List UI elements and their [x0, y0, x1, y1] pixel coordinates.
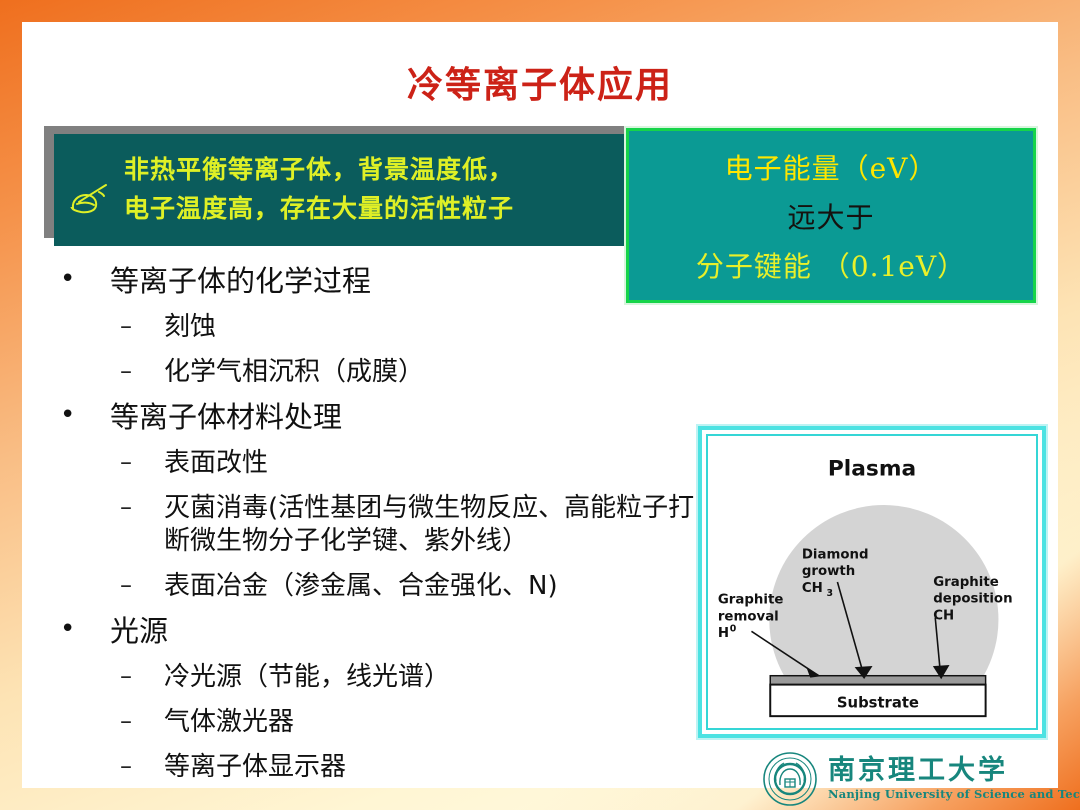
- slide: 冷等离子体应用 非热平衡等离子体，背景温度低， 电子温度高，存在大量的活性粒子: [0, 0, 1080, 810]
- bullet-text: 气体激光器: [164, 706, 294, 740]
- label-graphite-removal-line2: removal: [718, 609, 779, 624]
- callout-line-1: 非热平衡等离子体，背景温度低，: [124, 151, 514, 190]
- bullet-item-level2: – 表面冶金（渗金属、合金强化、N): [48, 570, 728, 604]
- bullet-marker: –: [120, 661, 164, 692]
- bullet-item-level1: • 等离子体材料处理: [48, 399, 728, 436]
- bullet-text: 刻蚀: [164, 311, 216, 345]
- logo-text-block: 南京理工大学 Nanjing University of Science and…: [828, 757, 1080, 801]
- plasma-diagram: Plasma Diamond growth CH 3 Graphite remo…: [698, 426, 1046, 738]
- bullet-text: 等离子体材料处理: [110, 399, 342, 436]
- logo-english-name: Nanjing University of Science and Techno…: [828, 787, 1080, 801]
- bullet-marker: –: [120, 706, 164, 737]
- bullet-item-level2: – 表面改性: [48, 447, 728, 481]
- callout-line-2: 电子温度高，存在大量的活性粒子: [124, 190, 514, 229]
- page-title: 冷等离子体应用: [22, 56, 1058, 108]
- bullet-text: 冷光源（节能，线光谱）: [164, 661, 450, 695]
- bullet-marker: –: [120, 356, 164, 387]
- bullet-marker: –: [120, 570, 164, 601]
- bullet-item-level2: – 等离子体显示器: [48, 751, 728, 785]
- bullet-item-level2: – 化学气相沉积（成膜）: [48, 356, 728, 390]
- label-diamond-line1: Diamond: [802, 547, 869, 562]
- bullet-marker: –: [120, 492, 164, 523]
- bullet-item-level2: – 气体激光器: [48, 706, 728, 740]
- label-graphite-removal-superscript: 0: [730, 623, 737, 634]
- bullet-list: • 等离子体的化学过程 – 刻蚀 – 化学气相沉积（成膜） • 等离子体材料处理…: [48, 254, 728, 785]
- university-seal-icon: [762, 751, 818, 807]
- bullet-text: 等离子体显示器: [164, 751, 346, 785]
- bullet-item-level1: • 光源: [48, 613, 728, 650]
- bullet-marker: •: [48, 613, 110, 646]
- bullet-marker: –: [120, 447, 164, 478]
- bullet-text: 表面改性: [164, 447, 268, 481]
- callout-text: 非热平衡等离子体，背景温度低， 电子温度高，存在大量的活性粒子: [124, 151, 514, 229]
- label-diamond-line2: growth: [802, 564, 855, 579]
- university-logo: 南京理工大学 Nanjing University of Science and…: [762, 748, 1062, 810]
- quill-pen-icon: [54, 165, 124, 215]
- slide-canvas: 冷等离子体应用 非热平衡等离子体，背景温度低， 电子温度高，存在大量的活性粒子: [22, 22, 1058, 788]
- label-diamond-subscript: 3: [827, 588, 834, 599]
- bullet-item-level2: – 灭菌消毒(活性基团与微生物反应、高能粒子打断微生物分子化学键、紫外线）: [48, 492, 728, 560]
- bullet-text: 灭菌消毒(活性基团与微生物反应、高能粒子打断微生物分子化学键、紫外线）: [164, 492, 709, 560]
- label-graphite-removal-line1: Graphite: [718, 593, 784, 608]
- bullet-marker: –: [120, 751, 164, 782]
- bullet-marker: –: [120, 311, 164, 342]
- diagram-title: Plasma: [828, 456, 916, 481]
- bullet-item-level1: • 等离子体的化学过程: [48, 263, 728, 300]
- label-graphite-dep-line1: Graphite: [933, 575, 999, 590]
- bullet-text: 表面冶金（渗金属、合金强化、N): [164, 570, 558, 604]
- label-graphite-dep-line2: deposition: [933, 592, 1012, 607]
- label-graphite-removal-line3: H: [718, 626, 729, 641]
- bullet-item-level2: – 冷光源（节能，线光谱）: [48, 661, 728, 695]
- label-substrate: Substrate: [837, 694, 919, 711]
- bullet-marker: •: [48, 399, 110, 432]
- bullet-text: 光源: [110, 613, 168, 650]
- bullet-item-level2: – 刻蚀: [48, 311, 728, 345]
- plasma-diagram-inner: Plasma Diamond growth CH 3 Graphite remo…: [706, 434, 1038, 730]
- energy-line-1: 电子能量（eV）: [725, 147, 938, 187]
- logo-chinese-name: 南京理工大学: [828, 757, 1080, 784]
- label-diamond-line3: CH: [802, 581, 823, 596]
- bullet-text: 化学气相沉积（成膜）: [164, 356, 424, 390]
- bullet-marker: •: [48, 263, 110, 296]
- bullet-text: 等离子体的化学过程: [110, 263, 371, 300]
- label-graphite-dep-line3: CH: [933, 608, 954, 623]
- callout-box: 非热平衡等离子体，背景温度低， 电子温度高，存在大量的活性粒子: [54, 134, 640, 246]
- energy-line-3: 分子键能 （0.1eV）: [696, 245, 966, 285]
- energy-line-2: 远大于: [787, 196, 874, 236]
